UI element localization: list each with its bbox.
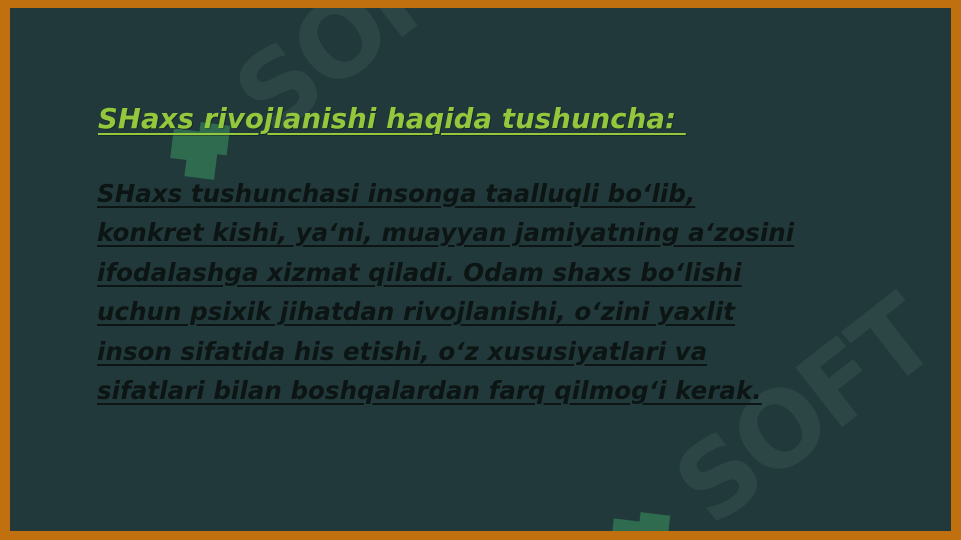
body-line: konkret kishi, ya‘ni, muayyan jamiyatnin… bbox=[97, 213, 878, 253]
body-line: SHaxs tushunchasi insonga taalluqli bo‘l… bbox=[97, 174, 878, 214]
body-line: sifatlari bilan boshqalardan farq qilmog… bbox=[97, 371, 878, 411]
slide-canvas: SOFT SOFT SHaxs rivojlanishi haqida tush… bbox=[10, 8, 951, 531]
body-line: ifodalashga xizmat qiladi. Odam shaxs bo… bbox=[97, 253, 878, 293]
slide-frame: SOFT SOFT SHaxs rivojlanishi haqida tush… bbox=[0, 0, 961, 540]
body-line: uchun psixik jihatdan rivojlanishi, o‘zi… bbox=[97, 292, 878, 332]
k-logo-icon bbox=[582, 465, 717, 531]
body-line: inson sifatida his etishi, o‘z xususiyat… bbox=[97, 332, 878, 372]
body-paragraph: SHaxs tushunchasi insonga taalluqli bo‘l… bbox=[97, 174, 878, 411]
page-title: SHaxs rivojlanishi haqida tushuncha: bbox=[98, 104, 878, 136]
slide-text-block: SHaxs rivojlanishi haqida tushuncha: SHa… bbox=[88, 104, 878, 411]
